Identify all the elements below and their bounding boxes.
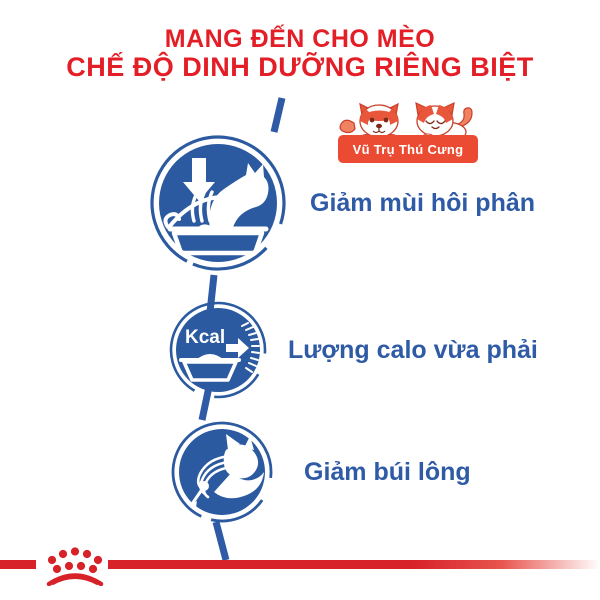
infographic-page: MANG ĐẾN CHO MÈO CHẾ ĐỘ DINH DƯỠNG RIÊNG…	[0, 0, 600, 600]
kcal-bowl-gauge-icon: Kcal	[168, 300, 268, 400]
cat-hairball-icon	[170, 420, 274, 524]
footer-bar-left	[0, 560, 36, 569]
footer-bar-right	[108, 560, 600, 569]
svg-text:Kcal: Kcal	[185, 327, 225, 348]
benefit-row-calories[interactable]: Kcal	[168, 300, 538, 400]
benefit-row-odor[interactable]: Giảm mùi hôi phân	[148, 133, 535, 273]
title-line-1: MANG ĐẾN CHO MÈO	[0, 26, 600, 53]
footer	[0, 534, 600, 600]
benefit-label-odor: Giảm mùi hôi phân	[310, 189, 535, 218]
title-line-2: CHẾ ĐỘ DINH DƯỠNG RIÊNG BIỆT	[0, 53, 600, 82]
royal-canin-crown-icon	[40, 544, 110, 586]
benefit-label-hairball: Giảm búi lông	[304, 458, 471, 487]
cat-litter-box-odor-icon	[148, 133, 288, 273]
benefit-row-hairball[interactable]: Giảm búi lông	[170, 420, 471, 524]
benefit-label-calories: Lượng calo vừa phải	[288, 336, 538, 365]
page-title: MANG ĐẾN CHO MÈO CHẾ ĐỘ DINH DƯỠNG RIÊNG…	[0, 26, 600, 82]
